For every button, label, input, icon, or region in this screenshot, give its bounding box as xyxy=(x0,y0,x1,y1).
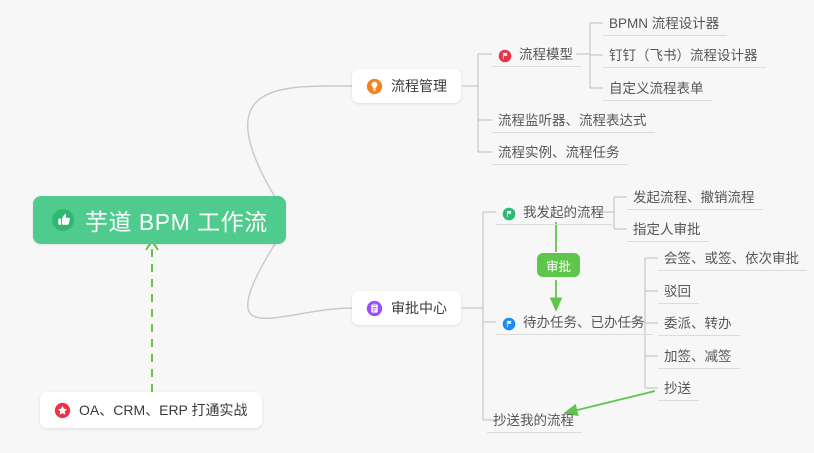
node-label: 钉钉（飞书）流程设计器 xyxy=(609,44,758,64)
flag-icon-blue xyxy=(502,317,516,331)
node-delegate-transfer[interactable]: 委派、转办 xyxy=(658,310,740,336)
root-node[interactable]: 芋道 BPM 工作流 xyxy=(33,196,286,244)
node-label: 加签、减签 xyxy=(664,345,732,365)
node-process-model[interactable]: 流程模型 xyxy=(492,41,581,67)
bottom-annotation-label: OA、CRM、ERP 打通实战 xyxy=(79,400,248,420)
bottom-annotation-card[interactable]: OA、CRM、ERP 打通实战 xyxy=(40,392,262,428)
node-assignee-approval[interactable]: 指定人审批 xyxy=(627,216,709,242)
thumbs-up-icon xyxy=(51,208,75,232)
node-custom-process-form[interactable]: 自定义流程表单 xyxy=(603,75,712,101)
node-carbon-copy[interactable]: 抄送 xyxy=(658,375,699,401)
node-label: 发起流程、撤销流程 xyxy=(633,186,755,206)
node-process-listener-expression[interactable]: 流程监听器、流程表达式 xyxy=(492,107,655,133)
node-countersign-or-sequential[interactable]: 会签、或签、依次审批 xyxy=(658,245,807,271)
node-label: 委派、转办 xyxy=(664,312,732,332)
approval-badge-label: 审批 xyxy=(546,256,571,275)
branch-node-approval-center[interactable]: 审批中心 xyxy=(352,291,461,325)
node-label: 会签、或签、依次审批 xyxy=(664,247,799,267)
node-label: 流程监听器、流程表达式 xyxy=(498,109,647,129)
lightbulb-icon xyxy=(366,78,383,95)
root-label: 芋道 BPM 工作流 xyxy=(85,203,268,237)
node-label: 流程模型 xyxy=(519,43,573,63)
branch-node-process-management[interactable]: 流程管理 xyxy=(352,69,461,103)
star-icon xyxy=(54,402,71,419)
node-start-cancel-process[interactable]: 发起流程、撤销流程 xyxy=(627,184,763,210)
node-label: 待办任务、已办任务 xyxy=(523,311,645,331)
node-add-remove-sign[interactable]: 加签、减签 xyxy=(658,343,740,369)
node-process-instance-task[interactable]: 流程实例、流程任务 xyxy=(492,139,628,165)
node-reject[interactable]: 驳回 xyxy=(658,278,699,304)
node-my-initiated-process[interactable]: 我发起的流程 xyxy=(496,199,612,225)
node-bpmn-designer[interactable]: BPMN 流程设计器 xyxy=(603,10,727,36)
node-label: 自定义流程表单 xyxy=(609,77,704,97)
clipboard-icon xyxy=(366,300,383,317)
flag-icon-red xyxy=(498,49,512,63)
mindmap-canvas: 芋道 BPM 工作流 流程管理 流程模型 BPMN 流程设计器 钉钉（飞书）流程… xyxy=(0,0,814,453)
flag-icon-green xyxy=(502,207,516,221)
node-label: 抄送 xyxy=(664,377,691,397)
node-dingtalk-feishu-designer[interactable]: 钉钉（飞书）流程设计器 xyxy=(603,42,766,68)
node-label: 流程实例、流程任务 xyxy=(498,141,620,161)
node-cc-to-me-process[interactable]: 抄送我的流程 xyxy=(487,407,582,433)
branch-label: 审批中心 xyxy=(391,298,447,318)
node-label: BPMN 流程设计器 xyxy=(609,12,719,32)
node-label: 指定人审批 xyxy=(633,218,701,238)
node-label: 驳回 xyxy=(664,280,691,300)
node-todo-done-tasks[interactable]: 待办任务、已办任务 xyxy=(496,309,653,335)
branch-label: 流程管理 xyxy=(391,76,447,96)
node-label: 我发起的流程 xyxy=(523,201,604,221)
approval-badge: 审批 xyxy=(537,253,580,277)
node-label: 抄送我的流程 xyxy=(493,409,574,429)
